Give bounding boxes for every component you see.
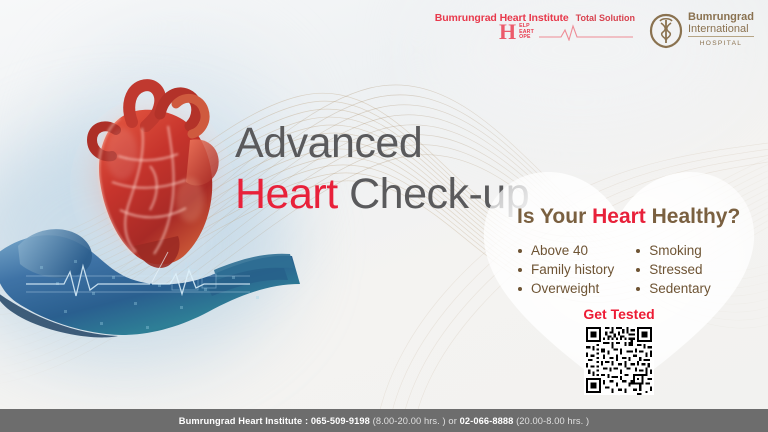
panel-title-pre: Is Your bbox=[517, 205, 592, 228]
footer-phone-2[interactable]: 02-066-8888 bbox=[460, 416, 514, 426]
caduceus-emblem-icon bbox=[649, 12, 683, 50]
footer-conjunction: or bbox=[446, 416, 460, 426]
qr-code[interactable] bbox=[584, 325, 654, 395]
ecg-line-icon bbox=[539, 23, 635, 41]
footer-hours-1: (8.00-20.00 hrs. ) bbox=[370, 416, 446, 426]
list-item: Smoking bbox=[636, 243, 711, 258]
list-item-label: Sedentary bbox=[649, 281, 711, 296]
bullet-dot-icon bbox=[518, 268, 522, 272]
risk-factor-column-left: Above 40 Family history Overweight bbox=[518, 243, 614, 296]
bhi-logo-tagline: Total Solution bbox=[576, 13, 635, 23]
list-item: Overweight bbox=[518, 281, 614, 296]
logo-group: Bumrungrad Heart Institute Total Solutio… bbox=[435, 12, 754, 50]
list-item-label: Above 40 bbox=[531, 243, 588, 258]
bullet-dot-icon bbox=[518, 287, 522, 291]
list-item-label: Overweight bbox=[531, 281, 599, 296]
bullet-dot-icon bbox=[636, 287, 640, 291]
heart-panel-content: Is Your Heart Healthy? Above 40 Family h… bbox=[470, 160, 768, 410]
panel-title-post: Healthy? bbox=[646, 205, 741, 228]
panel-title: Is Your Heart Healthy? bbox=[517, 205, 740, 229]
headline-word-heart: Heart bbox=[235, 170, 338, 218]
get-tested-label: Get Tested bbox=[470, 306, 768, 322]
risk-factor-list: Above 40 Family history Overweight Smoki… bbox=[518, 243, 711, 296]
bhi-logo-monogram: H bbox=[499, 23, 516, 40]
qr-code-wrapper[interactable] bbox=[470, 325, 768, 395]
bullet-dot-icon bbox=[636, 268, 640, 272]
hand-holding-heart-artwork bbox=[0, 70, 300, 370]
bumrungrad-heart-institute-logo: Bumrungrad Heart Institute Total Solutio… bbox=[435, 12, 635, 41]
bullet-dot-icon bbox=[518, 249, 522, 253]
poster-canvas: Bumrungrad Heart Institute Total Solutio… bbox=[0, 0, 768, 432]
bumrungrad-international-logo: Bumrungrad International HOSPITAL bbox=[649, 12, 754, 50]
risk-factor-column-right: Smoking Stressed Sedentary bbox=[636, 243, 711, 296]
bhi-logo-word-hope: OPE bbox=[519, 35, 534, 41]
panel-title-heart: Heart bbox=[592, 205, 646, 228]
list-item-label: Family history bbox=[531, 262, 614, 277]
footer-bar: Bumrungrad Heart Institute : 065-509-919… bbox=[0, 409, 768, 432]
bi-logo-divider bbox=[688, 36, 754, 37]
footer-separator: : bbox=[302, 416, 311, 426]
footer-org: Bumrungrad Heart Institute bbox=[179, 416, 302, 426]
footer-hours-2: (20.00-8.00 hrs. ) bbox=[513, 416, 589, 426]
bi-logo-line2: International bbox=[688, 24, 754, 36]
list-item: Family history bbox=[518, 262, 614, 277]
list-item-label: Smoking bbox=[649, 243, 702, 258]
bi-logo-line3: HOSPITAL bbox=[688, 38, 754, 50]
list-item-label: Stressed bbox=[649, 262, 702, 277]
footer-phone-1[interactable]: 065-509-9198 bbox=[311, 416, 370, 426]
list-item: Sedentary bbox=[636, 281, 711, 296]
bullet-dot-icon bbox=[636, 249, 640, 253]
list-item: Stressed bbox=[636, 262, 711, 277]
list-item: Above 40 bbox=[518, 243, 614, 258]
footer-contact-text: Bumrungrad Heart Institute : 065-509-919… bbox=[179, 416, 589, 426]
